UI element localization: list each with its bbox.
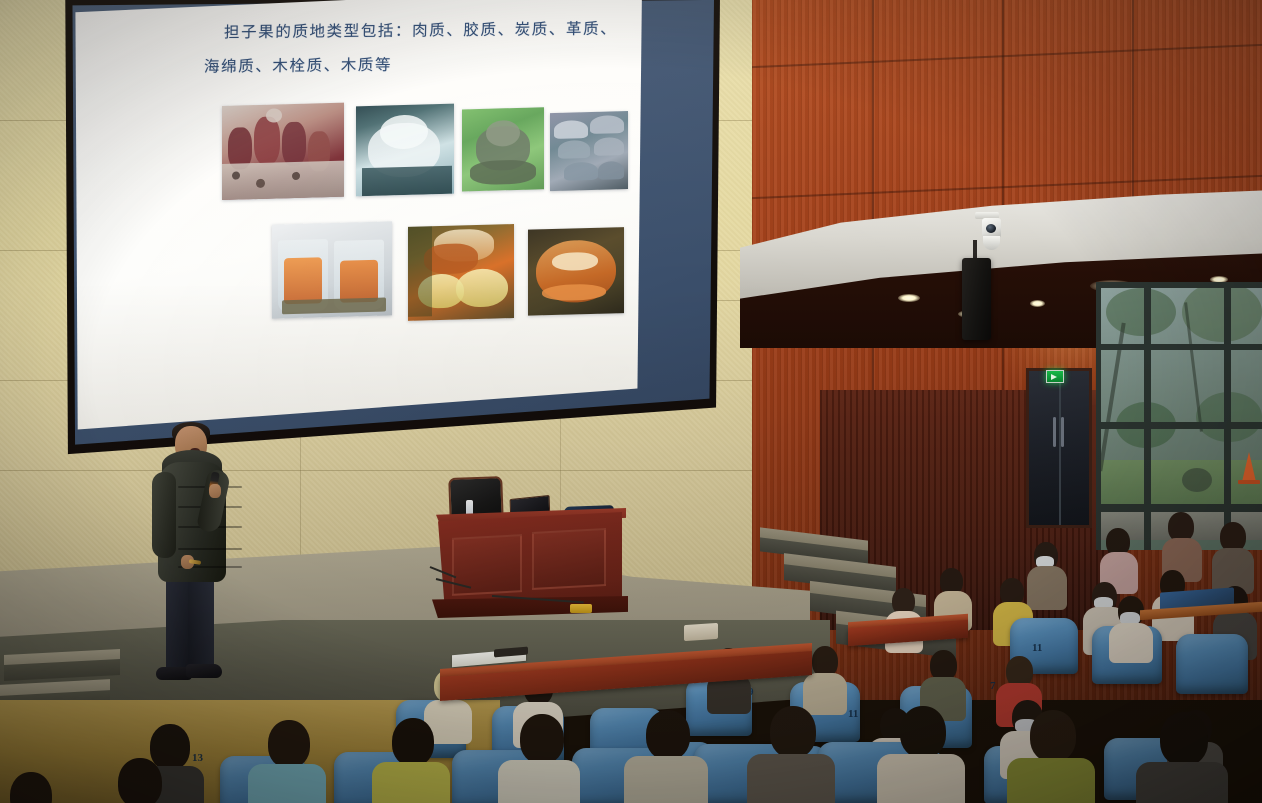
- window-wall: [1096, 282, 1262, 550]
- seat: [1176, 634, 1248, 694]
- presenter-hand: [209, 484, 221, 498]
- notebook: [684, 623, 718, 641]
- camera-lens-icon: [986, 224, 996, 233]
- slide-photo-1: [222, 103, 344, 200]
- seat-number: 11: [848, 708, 858, 720]
- lecture-hall-photo: 担子果的质地类型包括：肉质、胶质、炭质、革质、 海绵质、木栓质、木质等: [0, 0, 1262, 803]
- projected-slide: 担子果的质地类型包括：肉质、胶质、炭质、革质、 海绵质、木栓质、木质等: [72, 0, 642, 434]
- seat-number: 7: [990, 680, 996, 692]
- speaker-bracket: [973, 240, 977, 260]
- slide-photo-3: [462, 107, 544, 191]
- slide-photo-2: [356, 104, 454, 197]
- exit-door[interactable]: [1026, 368, 1092, 528]
- slide-text-line-2: 海绵质、木栓质、木质等: [204, 53, 392, 77]
- slide-photo-5: [272, 221, 392, 318]
- exit-sign-icon: [1046, 370, 1064, 383]
- wall-speaker-icon: [962, 258, 991, 340]
- traffic-cone-icon: [1242, 452, 1256, 482]
- seat-number: 13: [192, 752, 203, 764]
- seat-number: 11: [1032, 642, 1042, 654]
- slide-photo-4: [550, 111, 628, 191]
- slide-photo-7: [528, 227, 624, 316]
- slide-photo-6: [408, 224, 514, 321]
- slide-text-line-1: 担子果的质地类型包括：肉质、胶质、炭质、革质、: [224, 17, 618, 43]
